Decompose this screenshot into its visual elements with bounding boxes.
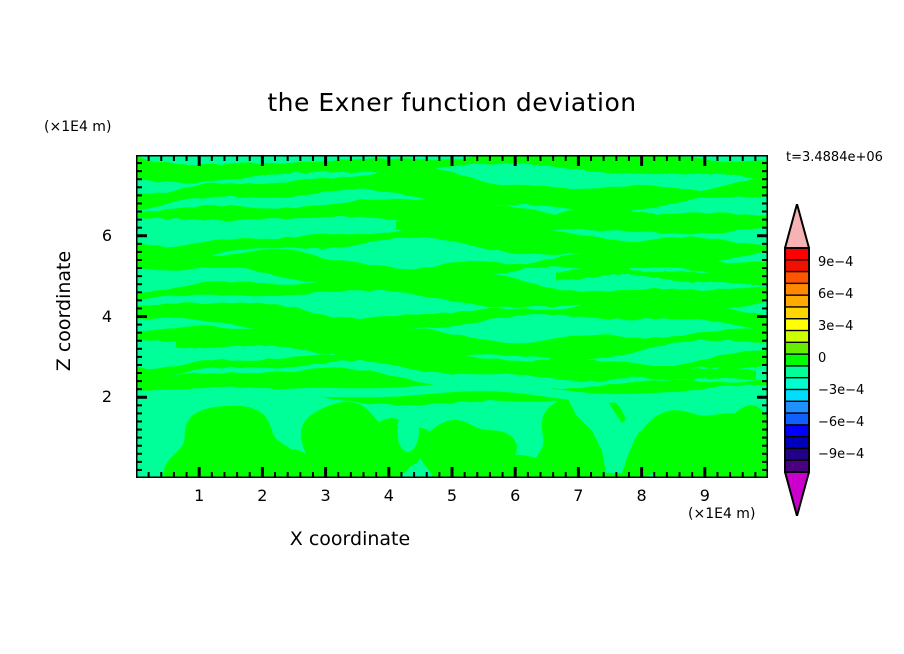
contour-plot bbox=[136, 155, 768, 478]
time-annotation: t=3.4884e+06 bbox=[786, 150, 883, 165]
x-axis-title: X coordinate bbox=[0, 528, 700, 550]
y-tick-label: 2 bbox=[90, 387, 124, 406]
page-title: the Exner function deviation bbox=[0, 88, 904, 117]
x-axis-unit-label: (×1E4 m) bbox=[688, 506, 755, 522]
y-axis-title: Z coordinate bbox=[53, 211, 75, 411]
x-tick-label: 4 bbox=[369, 486, 409, 505]
colorbar-tick-label: −9e−4 bbox=[818, 447, 864, 462]
y-tick-label: 6 bbox=[90, 226, 124, 245]
colorbar bbox=[784, 204, 814, 516]
x-tick-label: 1 bbox=[179, 486, 219, 505]
x-tick-label: 2 bbox=[242, 486, 282, 505]
colorbar-tick-label: −6e−4 bbox=[818, 415, 864, 430]
colorbar-tick-label: 6e−4 bbox=[818, 287, 853, 302]
colorbar-tick-label: 9e−4 bbox=[818, 255, 853, 270]
x-tick-label: 9 bbox=[685, 486, 725, 505]
x-tick-label: 6 bbox=[495, 486, 535, 505]
x-tick-label: 7 bbox=[558, 486, 598, 505]
y-tick-label: 4 bbox=[90, 307, 124, 326]
colorbar-tick-label: 3e−4 bbox=[818, 319, 853, 334]
x-tick-label: 3 bbox=[306, 486, 346, 505]
colorbar-tick-label: 0 bbox=[818, 351, 826, 366]
colorbar-tick-label: −3e−4 bbox=[818, 383, 864, 398]
x-tick-label: 8 bbox=[622, 486, 662, 505]
x-tick-label: 5 bbox=[432, 486, 472, 505]
y-axis-unit-label: (×1E4 m) bbox=[44, 119, 111, 135]
